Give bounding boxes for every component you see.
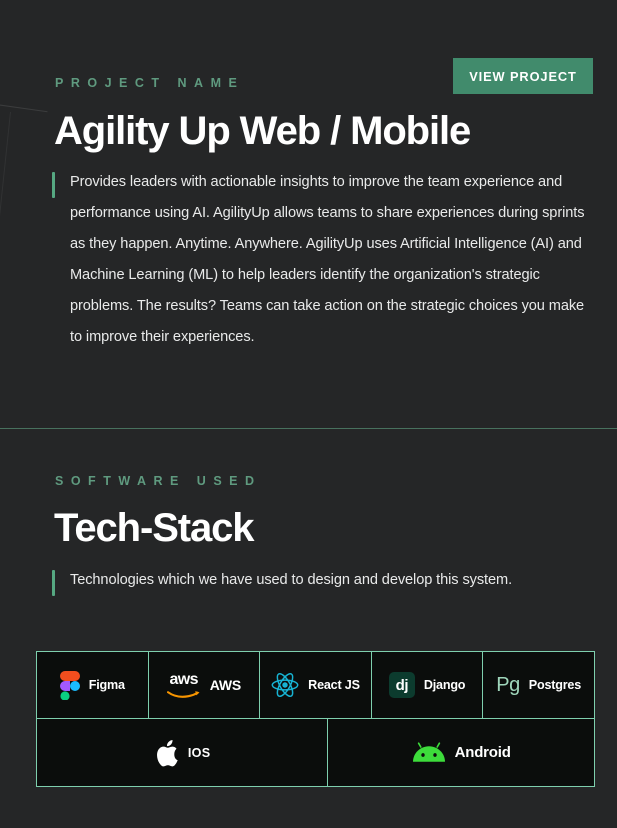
tech-title: Tech-Stack xyxy=(54,507,253,550)
aws-icon: aws xyxy=(167,672,201,698)
figma-icon xyxy=(60,671,80,700)
tech-item-django[interactable]: dj Django xyxy=(372,652,484,718)
project-title: Agility Up Web / Mobile xyxy=(54,110,470,153)
tech-item-label: React JS xyxy=(308,678,360,692)
aws-swoosh-icon xyxy=(167,689,201,698)
django-icon: dj xyxy=(389,672,415,698)
tech-item-label: Figma xyxy=(89,678,125,692)
tech-item-label: Django xyxy=(424,678,465,692)
tech-item-android[interactable]: Android xyxy=(328,719,594,786)
project-detail-page: PROJECT NAME Agility Up Web / Mobile VIE… xyxy=(0,0,617,828)
django-badge-text: dj xyxy=(396,678,408,693)
project-eyebrow-label: PROJECT NAME xyxy=(55,76,244,90)
decorative-diagonal-line-top xyxy=(0,104,48,112)
react-icon xyxy=(271,672,299,698)
tech-item-label: IOS xyxy=(188,746,211,760)
tech-item-label: Android xyxy=(455,744,511,761)
tech-item-label: AWS xyxy=(210,677,241,693)
tech-description-text: Technologies which we have used to desig… xyxy=(70,565,590,596)
view-project-button[interactable]: VIEW PROJECT xyxy=(453,58,593,94)
tech-description-block: Technologies which we have used to desig… xyxy=(52,565,592,596)
tech-stack-grid: Figma aws AWS xyxy=(36,651,595,787)
tech-eyebrow-label: SOFTWARE USED xyxy=(55,474,262,488)
tech-item-ios[interactable]: IOS xyxy=(37,719,328,786)
android-icon xyxy=(412,742,446,764)
tech-item-aws[interactable]: aws AWS xyxy=(149,652,261,718)
apple-icon xyxy=(154,738,179,768)
postgres-icon: Pg xyxy=(496,675,519,695)
decorative-diagonal-line-side xyxy=(0,112,11,222)
tech-item-figma[interactable]: Figma xyxy=(37,652,149,718)
project-description-block: Provides leaders with actionable insight… xyxy=(52,167,592,353)
aws-wordmark: aws xyxy=(170,672,198,688)
tech-item-postgres[interactable]: Pg Postgres xyxy=(483,652,594,718)
tech-stack-row-platforms: IOS Android xyxy=(37,719,594,786)
tech-item-react[interactable]: React JS xyxy=(260,652,372,718)
tech-stack-row-primary: Figma aws AWS xyxy=(37,652,594,719)
tech-item-label: Postgres xyxy=(529,678,581,692)
section-divider xyxy=(0,428,617,429)
project-description-text: Provides leaders with actionable insight… xyxy=(70,167,590,353)
